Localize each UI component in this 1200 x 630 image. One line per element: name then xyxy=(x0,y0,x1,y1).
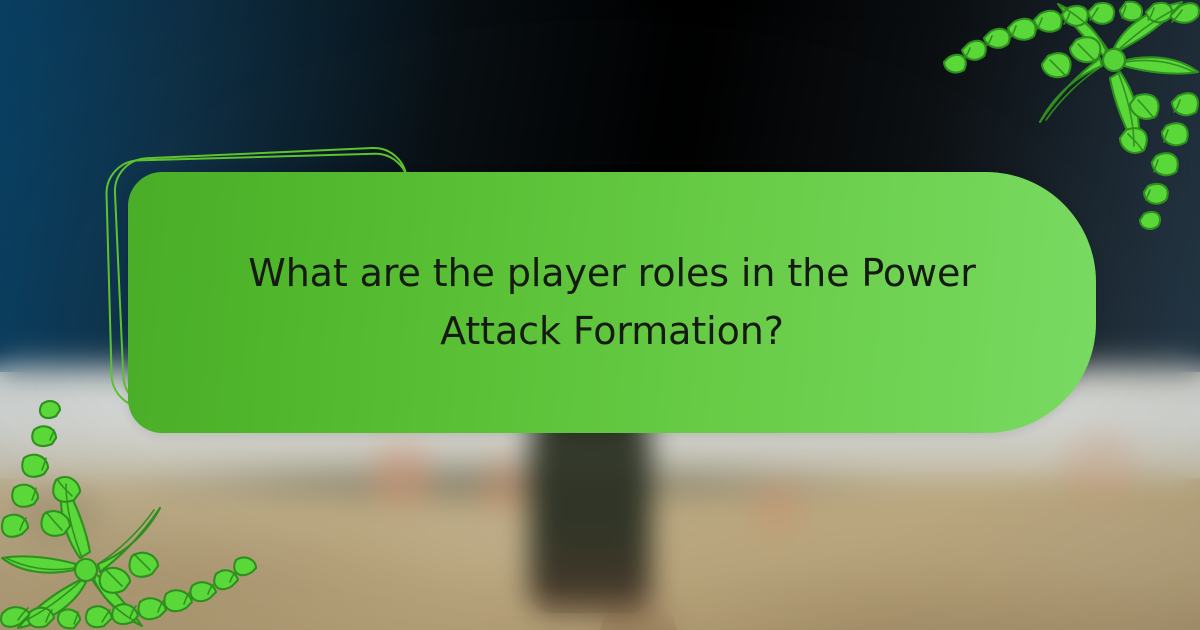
quote-card-image: What are the player roles in the Power A… xyxy=(0,0,1200,630)
question-card: What are the player roles in the Power A… xyxy=(128,172,1096,433)
question-text: What are the player roles in the Power A… xyxy=(202,245,1022,361)
